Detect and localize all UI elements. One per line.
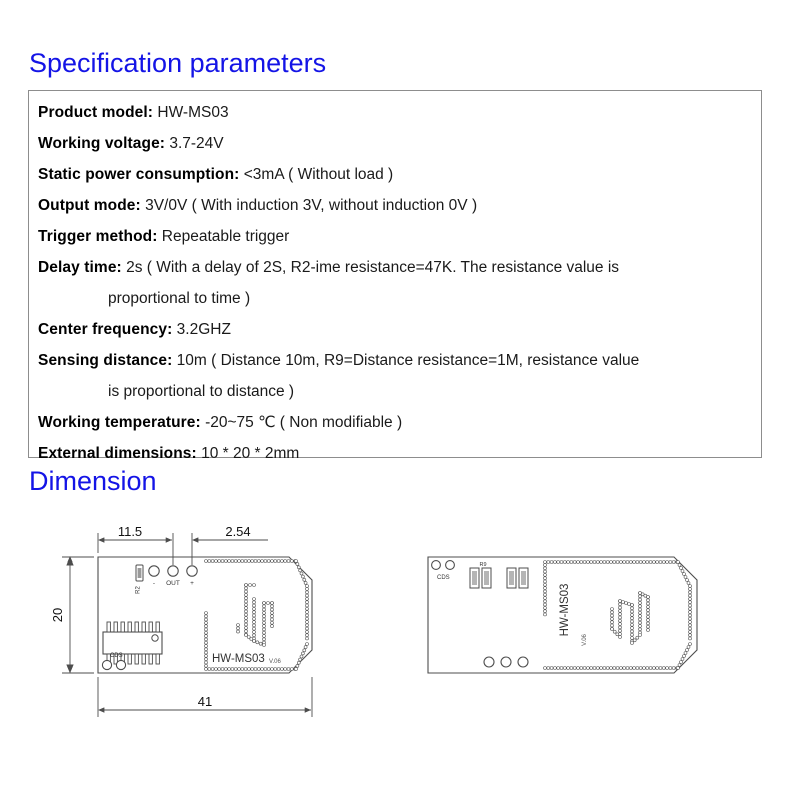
specification-list: Product model: HW-MS03Working voltage: 3… xyxy=(38,97,755,469)
front-pad-minus xyxy=(149,566,159,576)
spec-value: 10m ( Distance 10m, R9=Distance resistan… xyxy=(172,352,639,369)
front-pad-label-minus: - xyxy=(153,580,155,587)
spec-label: Working voltage: xyxy=(38,135,165,152)
spec-label: Trigger method: xyxy=(38,228,157,245)
front-pad-plus xyxy=(187,566,197,576)
spec-value-continuation: proportional to time ) xyxy=(38,283,755,314)
spec-label: Center frequency: xyxy=(38,321,172,338)
spec-value-continuation: is proportional to distance ) xyxy=(38,376,755,407)
spec-label: Static power consumption: xyxy=(38,166,239,183)
spec-value: 2s ( With a delay of 2S, R2-ime resistan… xyxy=(122,259,619,276)
front-pad-label-out: OUT xyxy=(166,580,180,587)
spec-row: Product model: HW-MS03 xyxy=(38,97,755,128)
specification-box: Product model: HW-MS03Working voltage: 3… xyxy=(28,90,762,458)
dim-label-41: 41 xyxy=(198,694,212,709)
dimension-drawing-area: R2 - OUT + CDS xyxy=(0,505,800,765)
spec-row: Working voltage: 3.7-24V xyxy=(38,128,755,159)
spec-row: Static power consumption: <3mA ( Without… xyxy=(38,159,755,190)
dim-label-11-5: 11.5 xyxy=(118,524,142,539)
front-silk-version: V.06 xyxy=(269,659,281,665)
spec-value: HW-MS03 xyxy=(153,104,229,121)
spec-value: 10 * 20 * 2mm xyxy=(197,445,300,462)
front-board-group: R2 - OUT + CDS xyxy=(98,557,312,673)
front-pad-label-plus: + xyxy=(190,580,194,587)
spec-value: Repeatable trigger xyxy=(157,228,289,245)
spec-label: External dimensions: xyxy=(38,445,197,462)
dimension-drawing-svg: R2 - OUT + CDS xyxy=(0,505,800,765)
front-cds-pad-2 xyxy=(116,660,125,669)
back-silk-version: V.06 xyxy=(582,633,588,645)
front-r2-label: R2 xyxy=(136,586,142,594)
spec-label: Delay time: xyxy=(38,259,122,276)
back-r9-label: R9 xyxy=(479,562,486,568)
back-cds-pad-1 xyxy=(432,561,441,570)
spec-row: Working temperature: -20~75 ℃ ( Non modi… xyxy=(38,407,755,438)
spec-value: 3V/0V ( With induction 3V, without induc… xyxy=(141,197,477,214)
back-pad-2 xyxy=(501,657,511,667)
spec-row: External dimensions: 10 * 20 * 2mm xyxy=(38,438,755,469)
back-pad-3 xyxy=(518,657,528,667)
spec-value: <3mA ( Without load ) xyxy=(239,166,393,183)
spec-value: 3.7-24V xyxy=(165,135,224,152)
spec-row: Sensing distance: 10m ( Distance 10m, R9… xyxy=(38,345,755,376)
spec-label: Working temperature: xyxy=(38,414,201,431)
front-cds-pad-1 xyxy=(102,660,111,669)
page-root: Specification parameters Product model: … xyxy=(0,0,800,800)
back-silk-model: HW-MS03 xyxy=(559,584,571,637)
spec-label: Sensing distance: xyxy=(38,352,172,369)
back-pad-1 xyxy=(484,657,494,667)
front-silk-model: HW-MS03 xyxy=(212,653,265,665)
dimension-heading: Dimension xyxy=(29,466,157,497)
spec-row: Output mode: 3V/0V ( With induction 3V, … xyxy=(38,190,755,221)
front-cds-label: CDS xyxy=(110,653,123,659)
front-resistor-r2-body xyxy=(138,568,142,578)
spec-value: -20~75 ℃ ( Non modifiable ) xyxy=(201,414,402,431)
spec-label: Output mode: xyxy=(38,197,141,214)
back-cds-pad-2 xyxy=(446,561,455,570)
front-pad-out xyxy=(168,566,178,576)
specification-heading: Specification parameters xyxy=(29,48,326,79)
dim-label-20: 20 xyxy=(50,608,65,622)
spec-row: Center frequency: 3.2GHZ xyxy=(38,314,755,345)
spec-label: Product model: xyxy=(38,104,153,121)
spec-row: Trigger method: Repeatable trigger xyxy=(38,221,755,252)
spec-value: 3.2GHZ xyxy=(172,321,231,338)
back-cds-label: CDS xyxy=(437,575,450,581)
back-board-group: CDS R9 HW-M xyxy=(428,557,697,673)
spec-row: Delay time: 2s ( With a delay of 2S, R2-… xyxy=(38,252,755,283)
dim-label-2-54: 2.54 xyxy=(225,524,250,539)
